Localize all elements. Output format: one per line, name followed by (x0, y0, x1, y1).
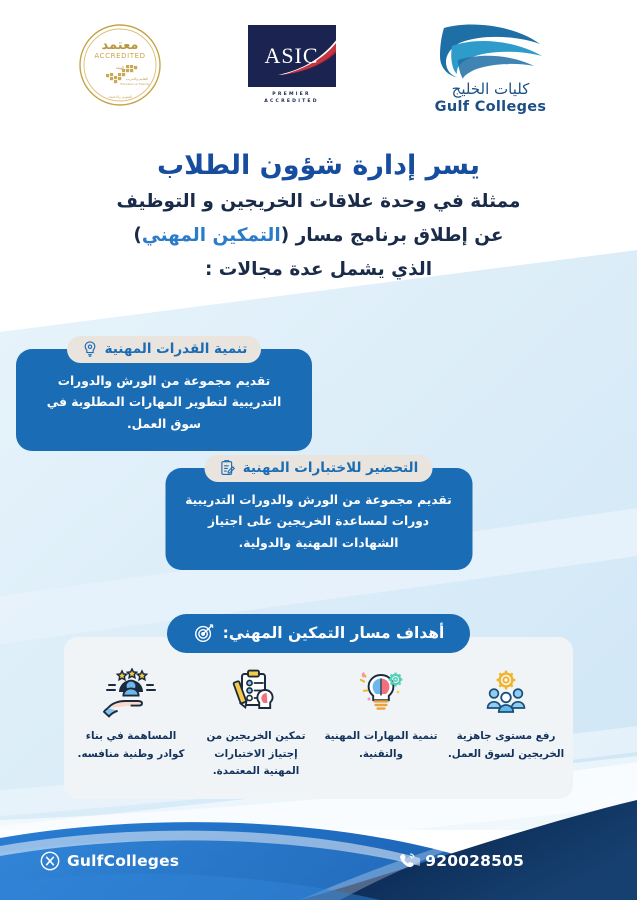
svg-text:Education & Training: Education & Training (120, 82, 149, 86)
x-twitter-icon[interactable] (40, 851, 60, 871)
objectives-section: أهداف مسار التمكين المهني: (0, 614, 637, 799)
title-program-suffix: ) (133, 225, 141, 246)
objective-item: تنمية المهارات المهنية والتقنية. (322, 667, 440, 763)
card-exam-preparation: التحضير للاختبارات المهنية تقديم مجموعة … (165, 455, 472, 570)
card-title: التحضير للاختبارات المهنية (243, 460, 419, 476)
footer-phone[interactable]: 920028505 (397, 851, 524, 872)
card-pill-wrap: التحضير للاختبارات المهنية (165, 455, 472, 482)
title-subline-1: ممثلة في وحدة علاقات الخريجين و التوظيف (0, 186, 637, 218)
title-program-prefix: عن إطلاق برنامج مسار ( (281, 225, 504, 246)
card-header-pill: تنمية القدرات المهنية (67, 336, 262, 363)
title-subline-3: الذي يشمل عدة مجالات : (0, 254, 637, 286)
objective-text: تنمية المهارات المهنية والتقنية. (322, 728, 440, 763)
objective-text: تمكين الخريجين من إجتياز الاختبارات المه… (197, 728, 315, 781)
card-professional-ability: تنمية القدرات المهنية تقديم مجموعة من ال… (16, 336, 312, 451)
svg-text:معتمد: معتمد (101, 38, 138, 53)
poster-root: كليات الخليج Gulf Colleges ASIC PREMIER … (0, 0, 637, 900)
objective-item: تمكين الخريجين من إجتياز الاختبارات المه… (197, 667, 315, 781)
footer-twitter-label: GulfColleges (67, 852, 179, 870)
objective-text: المساهمة في بناء كوادر وطنية منافسه. (72, 728, 190, 763)
clipboard-checklist-icon (219, 459, 237, 477)
poster-title: يسر إدارة شؤون الطلاب (0, 148, 637, 184)
brain-lightbulb-icon (354, 667, 408, 719)
svg-text:التقويم والاعتماد: التقويم والاعتماد (107, 95, 131, 99)
gulf-colleges-english-name: Gulf Colleges (435, 99, 547, 115)
footer-twitter[interactable]: GulfColleges (40, 851, 179, 871)
objectives-header-label: أهداف مسار التمكين المهني: (223, 624, 445, 642)
asic-wordmark: ASIC (264, 43, 318, 69)
asic-subtitle: PREMIER ACCREDITED (248, 91, 336, 105)
phone-icon[interactable] (397, 851, 418, 872)
svg-text:ACCREDITED: ACCREDITED (94, 52, 145, 60)
objectives-header: أهداف مسار التمكين المهني: (167, 614, 471, 653)
accredited-seal: معتمد ACCREDITED الهيئة التعليم والتدريب… (77, 22, 163, 108)
objectives-panel: رفع مستوى جاهزية الخريجين لسوق العمل. (64, 637, 573, 799)
footer-phone-label: 920028505 (425, 852, 524, 870)
objective-item: رفع مستوى جاهزية الخريجين لسوق العمل. (447, 667, 565, 763)
target-dart-icon (193, 622, 215, 644)
gear-people-icon (479, 667, 533, 719)
header-logos: كليات الخليج Gulf Colleges ASIC PREMIER … (0, 0, 637, 130)
svg-text:التعليم والتدريب: التعليم والتدريب (125, 77, 147, 81)
clipboard-brain-icon (229, 667, 283, 719)
card-header-pill: التحضير للاختبارات المهنية (205, 455, 433, 482)
objective-item: المساهمة في بناء كوادر وطنية منافسه. (72, 667, 190, 763)
card-title: تنمية القدرات المهنية (105, 341, 248, 357)
lightbulb-badge-icon (81, 340, 99, 358)
asic-logo-box: ASIC (248, 25, 336, 87)
title-program-accent: التمكين المهني (142, 225, 281, 246)
gulf-colleges-logo: كليات الخليج Gulf Colleges (421, 16, 561, 115)
title-subline-2: عن إطلاق برنامج مسار (التمكين المهني) (0, 220, 637, 252)
title-block: يسر إدارة شؤون الطلاب ممثلة في وحدة علاق… (0, 148, 637, 286)
asic-logo: ASIC PREMIER ACCREDITED (248, 25, 336, 105)
svg-text:الهيئة: الهيئة (115, 65, 124, 70)
card-body-text: تقديم مجموعة من الورش والدورات التدريبية… (16, 349, 312, 451)
footer-contact-bar: GulfColleges 920028505 (0, 844, 637, 878)
hand-star-person-icon (102, 667, 160, 719)
gulf-colleges-wave-icon (432, 16, 550, 82)
card-body-text: تقديم مجموعة من الورش والدورات التدريبية… (165, 468, 472, 570)
gulf-colleges-arabic-name: كليات الخليج (452, 80, 530, 98)
accredited-gold-seal-icon: معتمد ACCREDITED الهيئة التعليم والتدريب… (77, 22, 163, 108)
objective-text: رفع مستوى جاهزية الخريجين لسوق العمل. (447, 728, 565, 763)
